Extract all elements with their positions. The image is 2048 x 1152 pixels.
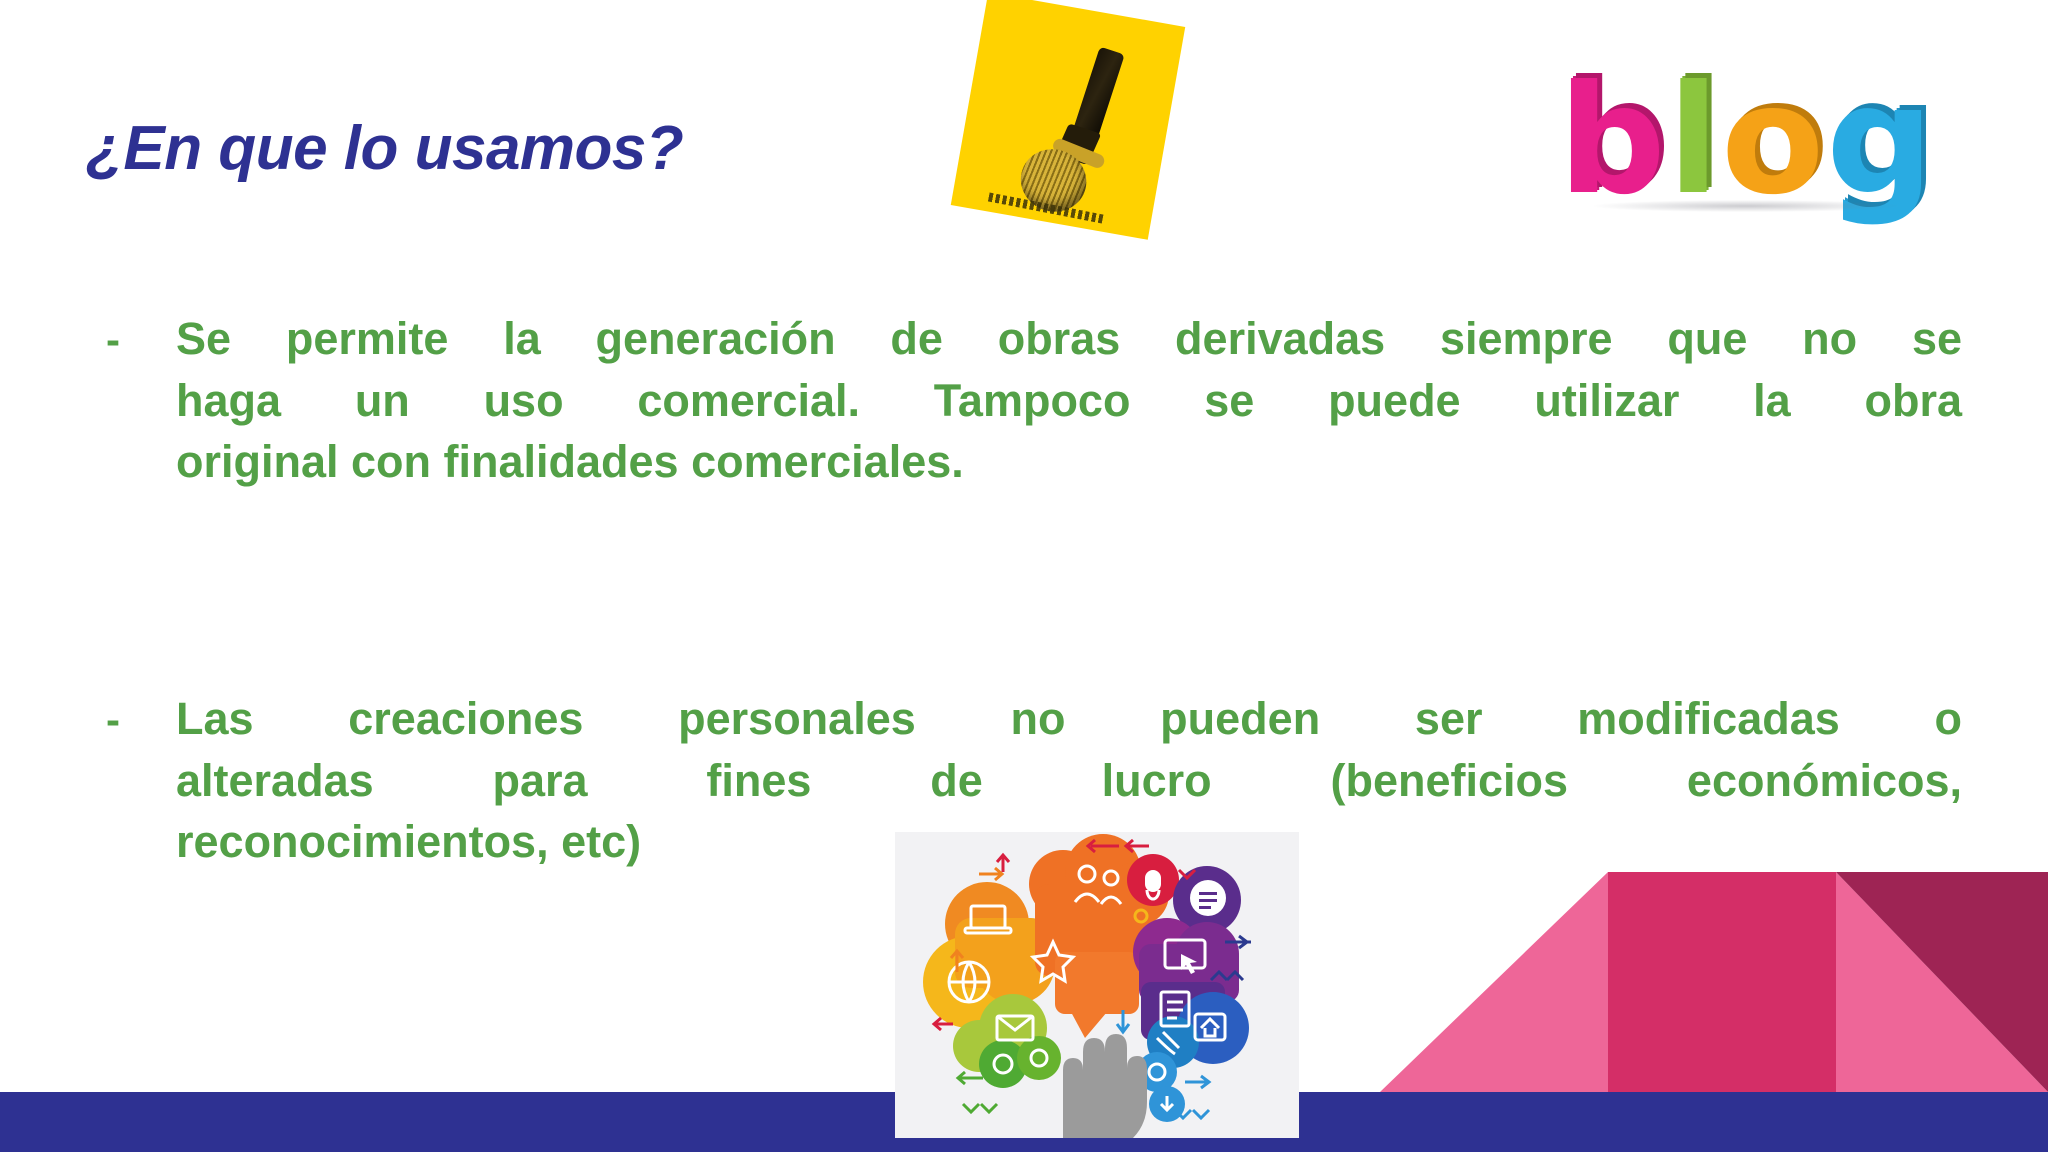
blog-3d-text-image: b l o g bbox=[1556, 60, 1936, 210]
bullet-text-1: Se permite la generación de obras deriva… bbox=[176, 308, 1962, 493]
ideas-upload-bubble bbox=[1127, 854, 1179, 906]
corner-triangles-decoration bbox=[1380, 872, 2048, 1092]
bullet-marker: - bbox=[106, 688, 176, 751]
deco-left-triangle bbox=[1380, 872, 1608, 1092]
page-title: ¿En que lo usamos? bbox=[86, 118, 683, 180]
bullet-1-line-3: original con finalidades comerciales. bbox=[176, 431, 1962, 493]
social-media-ideas-image bbox=[895, 832, 1299, 1138]
bullet-1-line-1: Se permite la generación de obras deriva… bbox=[176, 308, 1962, 370]
blog-letter-g: g bbox=[1826, 72, 1933, 210]
bullet-item-1: - Se permite la generación de obras deri… bbox=[106, 308, 1962, 493]
bullet-marker: - bbox=[106, 308, 176, 371]
blog-letter-l: l bbox=[1668, 72, 1719, 210]
deco-center-rect bbox=[1608, 872, 1836, 1092]
bullet-2-line-2: alteradas para fines de lucro (beneficio… bbox=[176, 750, 1962, 812]
slide-canvas: ¿En que lo usamos? b l o g - Se permite … bbox=[0, 0, 2048, 1152]
blog-letter-o: o bbox=[1721, 72, 1824, 210]
bullet-2-line-1: Las creaciones personales no pueden ser … bbox=[176, 688, 1962, 750]
blog-letters-group: b l o g bbox=[1556, 60, 1936, 210]
bullet-1-line-2: haga un uso comercial. Tampoco se puede … bbox=[176, 370, 1962, 432]
blog-letter-b: b bbox=[1558, 72, 1665, 210]
blog-drop-shadow bbox=[1594, 200, 1898, 212]
microphone-poster-image bbox=[951, 0, 1185, 240]
